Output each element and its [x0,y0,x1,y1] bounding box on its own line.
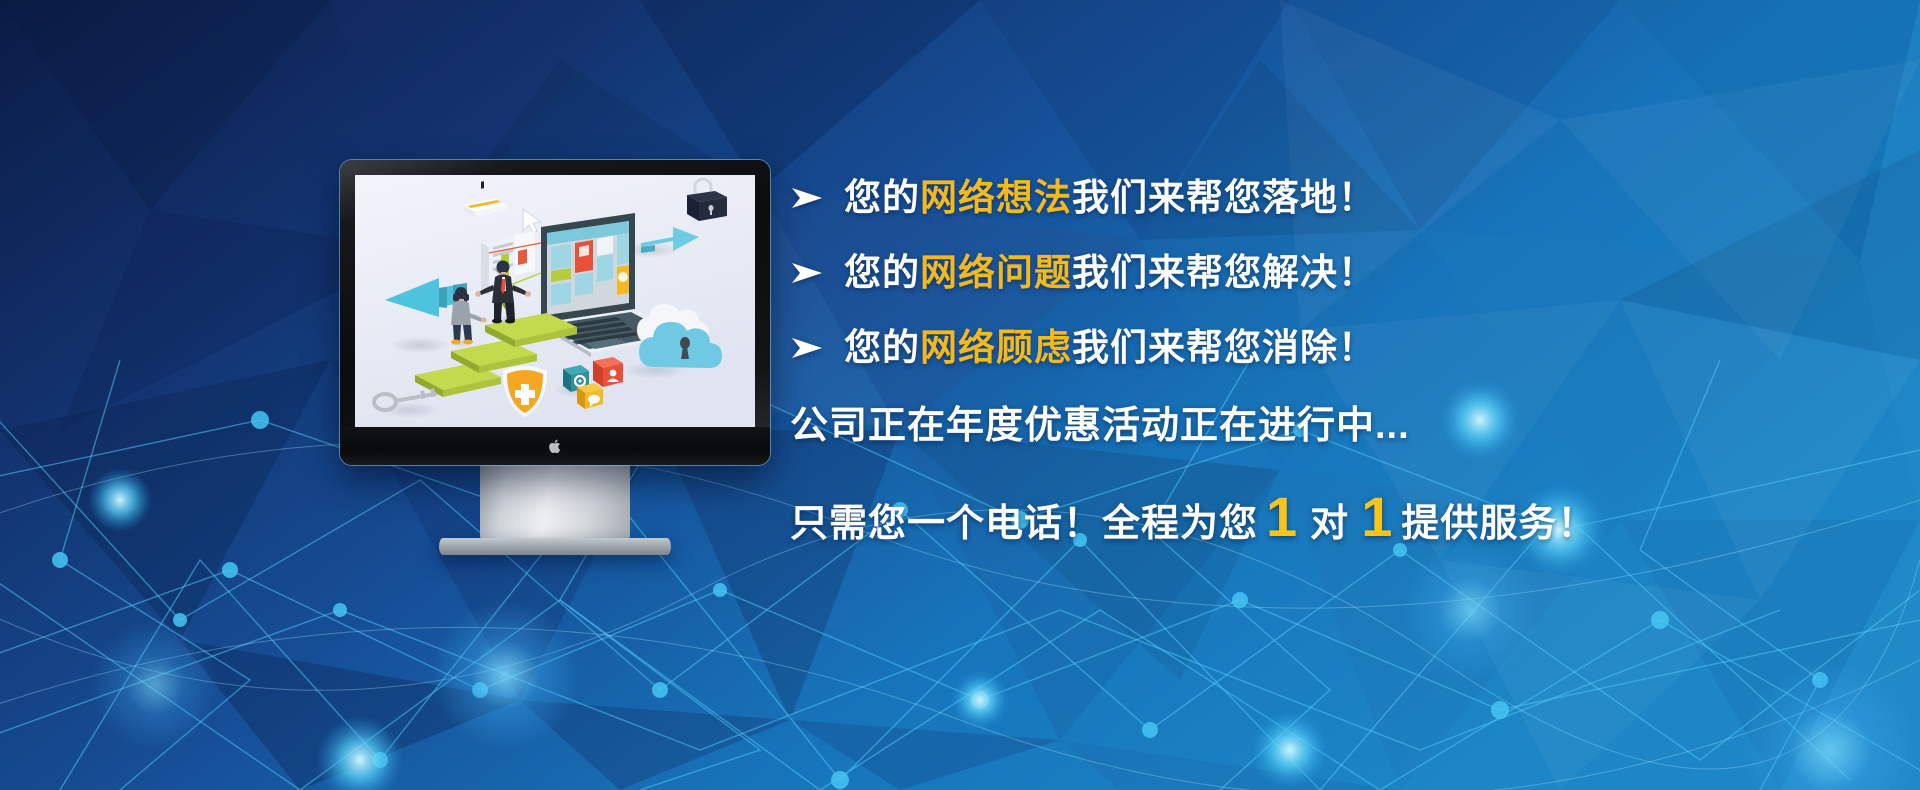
monitor-chin [340,427,770,465]
promo-banner: 您的网络想法我们来帮您落地！ 您的网络问题我们来帮您解决！ 您的网络顾虑我们来帮… [0,0,1920,790]
promo-line: 公司正在年度优惠活动正在进行中... [790,407,1800,445]
cta-number-second: 1 [1353,489,1401,545]
bullet-3-post: 我们来帮您消除！ [1072,327,1376,368]
arrow-bullet-icon [790,261,844,285]
user-app-icon [593,357,623,387]
apple-logo-icon [548,438,563,455]
cta-line: 只需您一个电话！全程为您 1 对 1 提供服务！ [790,489,1800,545]
bullet-2-pre: 您的 [844,252,920,293]
bullet-text-3: 您的网络顾虑我们来帮您消除！ [844,329,1376,366]
bullet-row-3: 您的网络顾虑我们来帮您消除！ [790,310,1800,385]
bullet-row-1: 您的网络想法我们来帮您落地！ [790,160,1800,235]
monitor-stand-base [439,538,671,555]
bullet-3-highlight: 网络顾虑 [920,327,1072,368]
cta-tail: 提供服务！ [1401,505,1596,543]
bullet-2-post: 我们来帮您解决！ [1072,252,1376,293]
shadow [390,337,450,353]
cta-mid: 对 [1306,505,1353,543]
isometric-illustration [355,175,755,427]
arrow-bullet-icon [790,186,844,210]
headline-copy-block: 您的网络想法我们来帮您落地！ 您的网络问题我们来帮您解决！ 您的网络顾虑我们来帮… [790,160,1800,545]
bullet-1-pre: 您的 [844,177,920,218]
monitor-stand-neck [480,465,630,541]
arrow-bullet-icon [790,336,844,360]
monitor-screen [355,175,755,427]
bullet-1-post: 我们来帮您落地！ [1072,177,1376,218]
monitor-illustration [340,160,770,555]
bullet-text-1: 您的网络想法我们来帮您落地！ [844,179,1376,216]
bullet-1-highlight: 网络想法 [920,177,1072,218]
cta-number-first: 1 [1258,489,1306,545]
bullet-text-2: 您的网络问题我们来帮您解决！ [844,254,1376,291]
bullet-2-highlight: 网络问题 [920,252,1072,293]
bullet-3-pre: 您的 [844,327,920,368]
cta-lead: 只需您一个电话！全程为您 [790,505,1258,543]
monitor-bezel [340,160,770,465]
bullet-row-2: 您的网络问题我们来帮您解决！ [790,235,1800,310]
document-icon [515,231,535,275]
